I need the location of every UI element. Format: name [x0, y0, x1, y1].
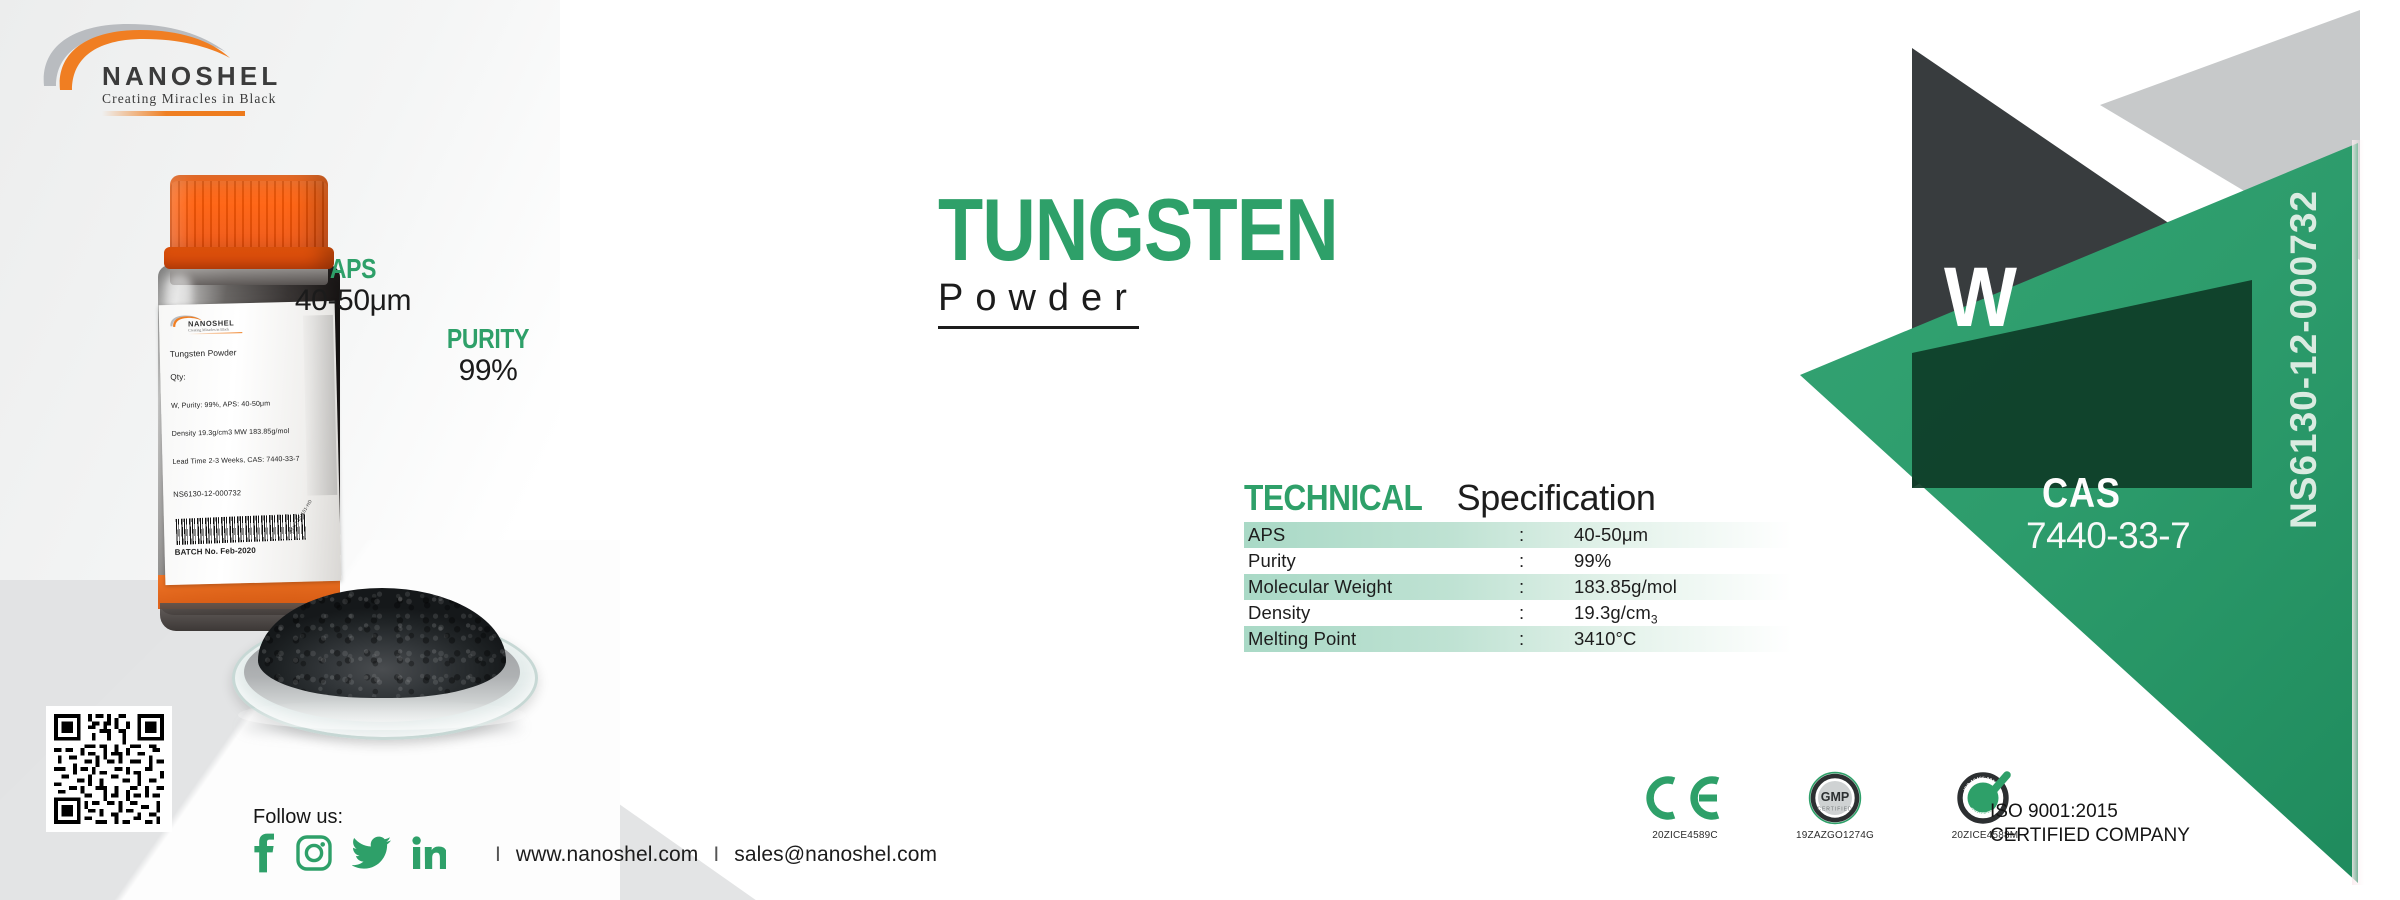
tungsten-powder-texture	[258, 588, 506, 698]
bottle-label-brand-underline	[188, 332, 242, 335]
bottle-label-line-density: Density 19.3g/cm3 MW 183.85g/mol	[172, 427, 290, 438]
spec-key: Density	[1248, 600, 1310, 626]
bottle-label-line-purity: W, Purity: 99%, APS: 40-50μm	[171, 399, 270, 409]
svg-text:GMP: GMP	[1821, 790, 1849, 804]
table-row: APS : 40-50μm	[1244, 522, 1792, 548]
brand-logo: NANOSHEL Creating Miracles in Black	[30, 18, 290, 118]
spec-separator: :	[1519, 626, 1524, 652]
table-row: Purity : 99%	[1244, 548, 1792, 574]
bottle-label-batch: BATCH No. Feb-2020	[175, 546, 256, 557]
bottle-label-line-product: Tungsten Powder	[170, 347, 237, 359]
twitter-icon	[352, 836, 392, 870]
footer-separator-1: I	[486, 843, 510, 866]
brand-underline	[102, 111, 245, 116]
gmp-code: 19ZAZGO1274G	[1780, 830, 1890, 841]
cas-number: 7440-33-7	[2026, 516, 2190, 556]
cas-label: CAS	[2042, 472, 2169, 514]
ce-mark	[1630, 770, 1740, 826]
cas-block: CAS 7440-33-7	[2042, 472, 2190, 556]
spec-key: Molecular Weight	[1248, 574, 1392, 600]
bottle-label-line-qty: Qty:	[170, 373, 186, 382]
qr-code[interactable]	[46, 706, 172, 832]
purity-callout: PURITY 99%	[398, 325, 578, 388]
gmp-mark: GMP CERTIFIED	[1780, 770, 1890, 826]
table-row: Molecular Weight : 183.85g/mol	[1244, 574, 1792, 600]
decorative-edge-sliver	[2352, 140, 2364, 885]
spec-separator: :	[1519, 522, 1524, 548]
spec-separator: :	[1519, 574, 1524, 600]
bottle-label-line-code: NS6130-12-000732	[173, 488, 241, 499]
ce-code: 20ZICE4589C	[1630, 830, 1740, 841]
purity-callout-label: PURITY	[414, 325, 562, 353]
petri-dish-rim-highlight	[238, 700, 526, 730]
iso9001-line1: ISO 9001:2015	[1990, 800, 2190, 824]
spec-value: 183.85g/mol	[1574, 574, 1677, 600]
instagram-link[interactable]	[296, 835, 332, 871]
qr-code-icon	[54, 714, 164, 824]
bottle-label-barcode	[176, 514, 307, 545]
aps-callout: APS 40-50μm	[258, 255, 448, 318]
bottle-label: NANOSHEL Creating Miracles in Black Tung…	[159, 301, 342, 585]
page-title: TUNGSTEN	[938, 190, 1338, 271]
iso9001-text: ISO 9001:2015 CERTIFIED COMPANY	[1990, 800, 2190, 849]
svg-text:CERTIFIED: CERTIFIED	[1817, 807, 1852, 813]
product-code-vertical: NS6130-12-000732	[2285, 190, 2322, 529]
spec-key: Melting Point	[1248, 626, 1356, 652]
bottle-label-line-leadtime: Lead Time 2-3 Weeks, CAS: 7440-33-7	[172, 455, 299, 466]
email-link[interactable]: sales@nanoshel.com	[734, 843, 937, 866]
spec-value: 40-50μm	[1574, 522, 1648, 548]
table-row: Density : 19.3g/cm3	[1244, 600, 1792, 626]
instagram-icon	[296, 835, 332, 871]
certification-badges: 20ZICE4589C GMP CERTIFIED 19ZAZGO1274G	[1630, 770, 2040, 870]
bottle-label-logo: NANOSHEL Creating Miracles in Black	[168, 309, 261, 337]
linkedin-link[interactable]	[412, 836, 446, 870]
website-link[interactable]: www.nanoshel.com	[516, 843, 699, 866]
gmp-certification: GMP CERTIFIED 19ZAZGO1274G	[1780, 770, 1890, 841]
product-title-block: TUNGSTEN Powder	[938, 190, 1414, 329]
social-links	[250, 832, 446, 874]
spec-heading-light: Specification	[1457, 477, 1656, 518]
twitter-link[interactable]	[352, 836, 392, 870]
footer-separator-2: I	[704, 843, 728, 866]
footer-contact: I www.nanoshel.com I sales@nanoshel.com	[486, 843, 937, 867]
product-banner: NANOSHEL Creating Miracles in Black NANO…	[0, 0, 2400, 900]
product-bottle-image: NANOSHEL Creating Miracles in Black Tung…	[150, 175, 350, 650]
spec-heading: TECHNICAL Specification	[1244, 480, 1792, 516]
gmp-icon: GMP CERTIFIED	[1808, 771, 1862, 825]
product-subtitle: Powder	[938, 279, 1139, 329]
spec-key: APS	[1248, 522, 1285, 548]
purity-callout-value: 99%	[398, 353, 578, 388]
technical-specification-table: TECHNICAL Specification APS : 40-50μm Pu…	[1244, 480, 1792, 652]
spec-separator: :	[1519, 548, 1524, 574]
table-row: Melting Point : 3410°C	[1244, 626, 1792, 652]
aps-callout-value: 40-50μm	[258, 283, 448, 318]
bottle-label-shading	[303, 315, 337, 496]
brand-tagline: Creating Miracles in Black	[102, 92, 276, 106]
bottle-cap-ribs	[170, 181, 328, 255]
facebook-link[interactable]	[250, 833, 276, 873]
aps-callout-label: APS	[275, 255, 431, 283]
spec-key: Purity	[1248, 548, 1296, 574]
ce-certification: 20ZICE4589C	[1630, 770, 1740, 841]
brand-name: NANOSHEL	[102, 63, 282, 89]
spec-separator: :	[1519, 600, 1524, 626]
element-symbol: W	[1944, 255, 2015, 339]
facebook-icon	[250, 833, 276, 873]
spec-heading-bold: TECHNICAL	[1244, 480, 1422, 516]
petri-dish-image	[232, 588, 532, 743]
follow-us-label: Follow us:	[253, 806, 343, 829]
spec-value: 99%	[1574, 548, 1611, 574]
linkedin-icon	[412, 836, 446, 870]
spec-value: 3410°C	[1574, 626, 1637, 652]
ce-icon	[1642, 773, 1728, 823]
iso9001-line2: CERTIFIED COMPANY	[1990, 824, 2190, 848]
